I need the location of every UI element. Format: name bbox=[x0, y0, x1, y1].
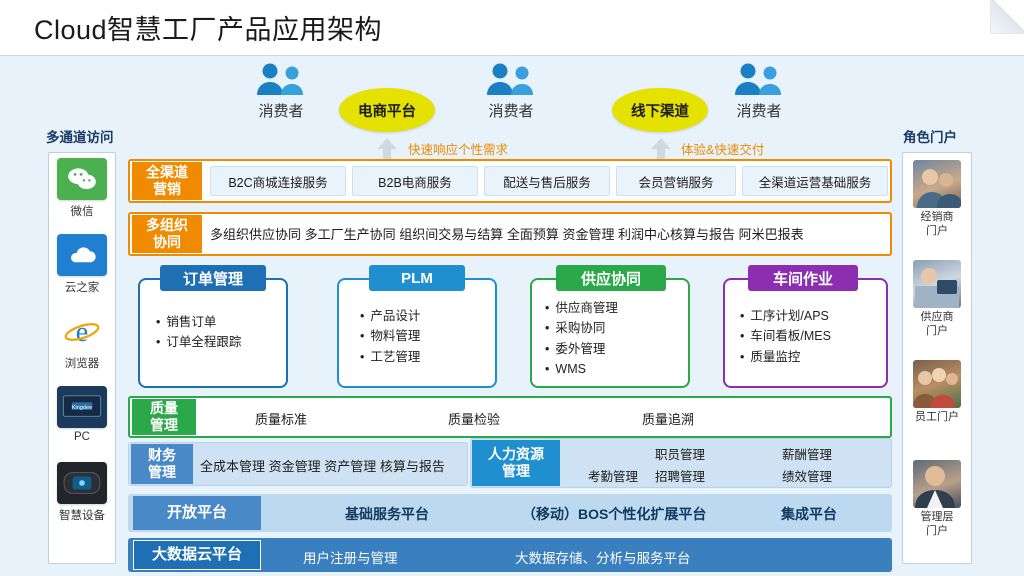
card-supply-item-4: WMS bbox=[545, 359, 618, 379]
card-workshop-item-3: 质量监控 bbox=[740, 347, 831, 367]
device-label-browser: 浏览器 bbox=[48, 355, 116, 371]
card-workshop-operations-items: 工序计划/APS 车间看板/MES 质量监控 bbox=[740, 306, 831, 367]
omnichannel-item-5[interactable]: 全渠道运营基础服务 bbox=[742, 166, 888, 196]
svg-text:Kingdee: Kingdee bbox=[72, 405, 93, 411]
finance-row-text: 全成本管理 资金管理 资产管理 核算与报告 bbox=[200, 456, 445, 475]
platform-item-basic: 基础服务平台 bbox=[345, 504, 429, 524]
card-plm-item-3: 工艺管理 bbox=[360, 347, 420, 367]
bigdata-item-2: 大数据存储、分析与服务平台 bbox=[515, 547, 691, 567]
portal-label-employee: 员工门户 bbox=[902, 411, 972, 425]
flow-note-1: 快速响应个性需求 bbox=[408, 139, 508, 158]
hr-item-4: 招聘管理 bbox=[655, 466, 705, 485]
wechat-icon bbox=[57, 158, 107, 200]
portal-item-supplier[interactable]: 供应商 门户 bbox=[902, 260, 972, 339]
quality-item-3: 质量追溯 bbox=[642, 409, 694, 428]
multiorg-row-text: 多组织供应协同 多工厂生产协同 组织间交易与结算 全面预算 资金管理 利润中心核… bbox=[210, 224, 886, 243]
card-supply-collaboration-items: 供应商管理 采购协同 委外管理 WMS bbox=[545, 298, 618, 379]
card-plm-items: 产品设计 物料管理 工艺管理 bbox=[360, 306, 420, 367]
card-plm-item-1: 产品设计 bbox=[360, 306, 420, 326]
page-title: Cloud智慧工厂产品应用架构 bbox=[34, 8, 382, 47]
hr-row-title: 人力资源 管理 bbox=[472, 440, 560, 486]
portal-avatar-dealer bbox=[913, 160, 961, 208]
device-item-wechat[interactable]: 微信 bbox=[48, 158, 116, 219]
bigdata-item-1: 用户注册与管理 bbox=[303, 547, 398, 567]
smart-device-icon bbox=[57, 462, 107, 504]
omnichannel-item-4[interactable]: 会员营销服务 bbox=[616, 166, 736, 196]
pc-icon: Kingdee bbox=[57, 386, 107, 428]
consumer-group-icon-3 bbox=[731, 62, 787, 98]
device-item-smart[interactable]: 智慧设备 bbox=[48, 462, 116, 523]
card-workshop-item-2: 车间看板/MES bbox=[740, 326, 831, 346]
platform-item-integration: 集成平台 bbox=[781, 504, 837, 524]
page-corner-fold bbox=[990, 0, 1024, 34]
consumer-label-3: 消费者 bbox=[704, 100, 814, 121]
right-column-header: 角色门户 bbox=[903, 126, 957, 146]
portal-avatar-employee bbox=[913, 360, 961, 408]
omnichannel-item-1[interactable]: B2C商城连接服务 bbox=[210, 166, 346, 196]
device-label-pc: PC bbox=[48, 431, 116, 443]
platform-item-bos: （移动）BOS个性化扩展平台 bbox=[522, 504, 706, 524]
card-supply-collaboration-title: 供应协同 bbox=[556, 265, 666, 291]
consumer-group-icon-1 bbox=[253, 62, 309, 98]
card-order-item-1: 销售订单 bbox=[156, 312, 241, 332]
svg-text:e: e bbox=[76, 317, 88, 348]
card-supply-item-2: 采购协同 bbox=[545, 318, 618, 338]
card-order-management-items: 销售订单 订单全程跟踪 bbox=[156, 312, 241, 353]
channel-offline[interactable]: 线下渠道 bbox=[612, 88, 708, 132]
hr-item-2: 薪酬管理 bbox=[782, 444, 832, 463]
card-workshop-item-1: 工序计划/APS bbox=[740, 306, 831, 326]
omnichannel-item-3[interactable]: 配送与售后服务 bbox=[484, 166, 610, 196]
quality-item-2: 质量检验 bbox=[448, 409, 500, 428]
flow-note-2: 体验&快速交付 bbox=[681, 139, 764, 158]
omnichannel-row-title: 全渠道 营销 bbox=[132, 162, 202, 200]
device-label-wechat: 微信 bbox=[48, 203, 116, 219]
card-supply-item-3: 委外管理 bbox=[545, 339, 618, 359]
diagram-canvas: 消费者 消费者 消费者 电商平台 线下渠道 快速响应个性需求 体验&快速交付 多… bbox=[0, 56, 1024, 576]
card-plm-item-2: 物料管理 bbox=[360, 326, 420, 346]
quality-row bbox=[128, 396, 892, 438]
portal-label-supplier: 供应商 门户 bbox=[902, 311, 972, 339]
consumer-label-2: 消费者 bbox=[456, 100, 566, 121]
cloud-icon bbox=[57, 234, 107, 276]
portal-label-dealer: 经销商 门户 bbox=[902, 211, 972, 239]
card-supply-item-1: 供应商管理 bbox=[545, 298, 618, 318]
hr-item-3: 考勤管理 bbox=[588, 466, 638, 485]
ie-browser-icon: e bbox=[57, 310, 107, 352]
quality-item-1: 质量标准 bbox=[255, 409, 307, 428]
multiorg-row-title: 多组织 协同 bbox=[132, 215, 202, 253]
portal-item-employee[interactable]: 员工门户 bbox=[902, 360, 972, 425]
channel-ecommerce[interactable]: 电商平台 bbox=[339, 88, 435, 132]
device-label-cloud: 云之家 bbox=[48, 279, 116, 295]
portal-avatar-management bbox=[913, 460, 961, 508]
hr-item-1: 职员管理 bbox=[655, 444, 705, 463]
device-item-pc[interactable]: Kingdee PC bbox=[48, 386, 116, 443]
consumer-label-1: 消费者 bbox=[226, 100, 336, 121]
title-bar: Cloud智慧工厂产品应用架构 bbox=[0, 0, 1024, 56]
portal-avatar-supplier bbox=[913, 260, 961, 308]
portal-item-management[interactable]: 管理层 门户 bbox=[902, 460, 972, 539]
platform-item-open[interactable]: 开放平台 bbox=[133, 496, 261, 530]
card-order-management-title: 订单管理 bbox=[160, 265, 266, 291]
device-item-browser[interactable]: e 浏览器 bbox=[48, 310, 116, 371]
quality-row-title: 质量 管理 bbox=[132, 399, 196, 435]
card-order-item-2: 订单全程跟踪 bbox=[156, 332, 241, 352]
hr-item-5: 绩效管理 bbox=[782, 466, 832, 485]
device-label-smart: 智慧设备 bbox=[48, 507, 116, 523]
device-item-cloud[interactable]: 云之家 bbox=[48, 234, 116, 295]
consumer-group-icon-2 bbox=[483, 62, 539, 98]
portal-item-dealer[interactable]: 经销商 门户 bbox=[902, 160, 972, 239]
card-workshop-operations-title: 车间作业 bbox=[748, 265, 858, 291]
left-column-header: 多通道访问 bbox=[46, 126, 114, 146]
portal-label-management: 管理层 门户 bbox=[902, 511, 972, 539]
finance-row-title: 财务 管理 bbox=[131, 444, 193, 484]
bigdata-row-title: 大数据云平台 bbox=[133, 540, 261, 570]
card-plm-title: PLM bbox=[369, 265, 465, 291]
omnichannel-item-2[interactable]: B2B电商服务 bbox=[352, 166, 478, 196]
